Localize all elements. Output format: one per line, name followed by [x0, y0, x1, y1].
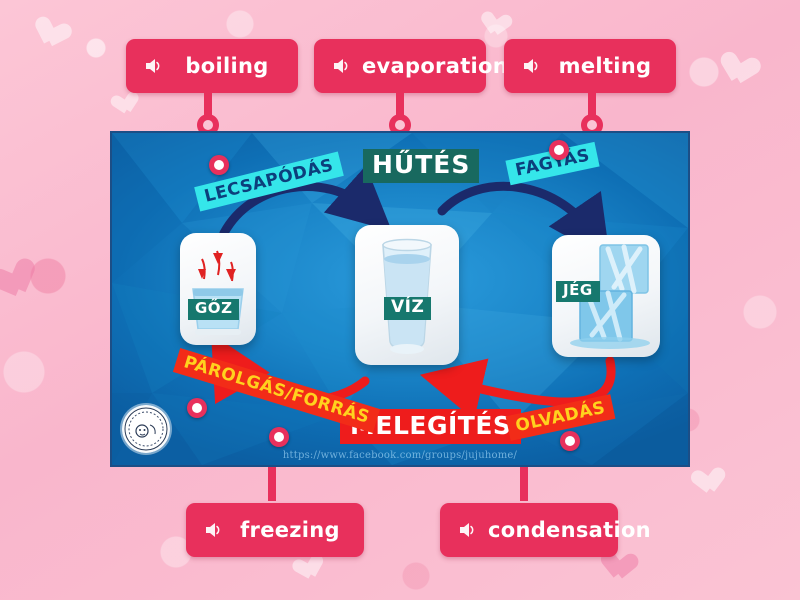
word-card-label: boiling — [174, 54, 280, 78]
water-tag: VÍZ — [384, 297, 431, 320]
stamp-logo-icon — [122, 405, 170, 453]
drop-target-pin-condensation[interactable] — [209, 155, 229, 175]
drop-target-pin-freezing[interactable] — [549, 140, 569, 160]
ice-tag: JÉG — [556, 281, 600, 302]
diagram-image: GŐZ VÍZ JÉG HŰTÉS M — [110, 131, 690, 467]
water-card: VÍZ — [355, 225, 459, 365]
connector-stem — [268, 467, 276, 501]
word-card-evaporation[interactable]: evaporation — [314, 39, 486, 93]
heart-decoration — [606, 552, 640, 586]
watermark-text: https://www.facebook.com/groups/jujuhome… — [112, 450, 688, 461]
steam-card: GŐZ — [180, 233, 256, 345]
glass-of-water-illustration — [355, 225, 459, 365]
heart-decoration — [484, 12, 514, 42]
word-card-label: evaporation — [362, 54, 508, 78]
heart-decoration — [115, 91, 143, 119]
speaker-icon[interactable] — [332, 57, 352, 75]
activity-stage: boiling evaporation melting — [0, 0, 800, 600]
stamp-logo — [122, 405, 170, 453]
word-card-label: freezing — [234, 518, 346, 542]
heart-decoration — [697, 467, 729, 499]
speaker-icon[interactable] — [458, 521, 478, 539]
speaker-icon[interactable] — [204, 521, 224, 539]
word-card-melting[interactable]: melting — [504, 39, 676, 93]
drop-target-pin-melting[interactable] — [560, 431, 580, 451]
beaker-with-steam-illustration — [180, 233, 256, 345]
ice-card: JÉG — [552, 235, 660, 357]
cooling-heading: HŰTÉS — [363, 149, 479, 183]
word-card-freezing[interactable]: freezing — [186, 503, 364, 557]
word-card-condensation[interactable]: condensation — [440, 503, 618, 557]
drop-target-pin-boiling[interactable] — [269, 427, 289, 447]
speaker-icon[interactable] — [144, 57, 164, 75]
connector-stem — [520, 467, 528, 501]
word-card-label: melting — [552, 54, 658, 78]
drop-target-pin-evaporation[interactable] — [187, 398, 207, 418]
word-card-label: condensation — [488, 518, 651, 542]
speaker-icon[interactable] — [522, 57, 542, 75]
steam-tag: GŐZ — [188, 299, 239, 320]
word-card-boiling[interactable]: boiling — [126, 39, 298, 93]
